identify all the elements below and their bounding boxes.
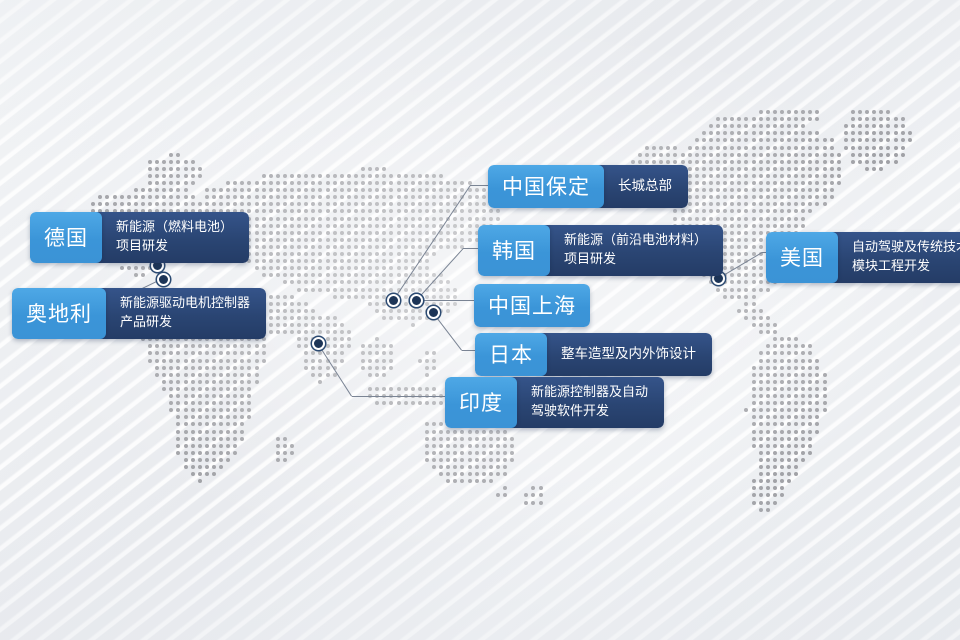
marker-india[interactable] <box>312 337 325 350</box>
label-desc-line: 新能源（燃料电池） <box>116 218 233 237</box>
label-name-korea: 韩国 <box>478 225 550 276</box>
label-name-usa: 美国 <box>766 232 838 283</box>
label-name-baoding: 中国保定 <box>488 165 604 208</box>
infographic-canvas: 中国保定长城总部韩国新能源（前沿电池材料）项目研发中国上海日本整车造型及内外饰设… <box>0 0 960 640</box>
label-austria[interactable]: 奥地利新能源驱动电机控制器产品研发 <box>12 288 266 339</box>
marker-baoding[interactable] <box>387 294 400 307</box>
label-desc-line: 项目研发 <box>116 237 233 256</box>
label-name-japan: 日本 <box>475 333 547 376</box>
label-desc-korea: 新能源（前沿电池材料）项目研发 <box>544 225 723 276</box>
label-desc-usa: 自动驾驶及传统技术模块工程开发 <box>832 232 960 283</box>
marker-shanghai[interactable] <box>410 294 423 307</box>
label-desc-austria: 新能源驱动电机控制器产品研发 <box>100 288 266 339</box>
label-desc-line: 长城总部 <box>618 176 672 196</box>
label-shanghai[interactable]: 中国上海 <box>474 284 590 327</box>
label-desc-japan: 整车造型及内外饰设计 <box>541 333 712 376</box>
label-desc-india: 新能源控制器及自动驾驶软件开发 <box>511 377 664 428</box>
label-baoding[interactable]: 中国保定长城总部 <box>488 165 688 208</box>
label-name-germany: 德国 <box>30 212 102 263</box>
label-desc-germany: 新能源（燃料电池）项目研发 <box>96 212 249 263</box>
label-desc-line: 驾驶软件开发 <box>531 402 648 421</box>
label-desc-line: 整车造型及内外饰设计 <box>561 344 696 364</box>
label-desc-line: 产品研发 <box>120 313 250 332</box>
label-name-shanghai: 中国上海 <box>474 284 590 327</box>
label-desc-line: 新能源驱动电机控制器 <box>120 294 250 313</box>
label-desc-line: 新能源（前沿电池材料） <box>564 231 707 250</box>
label-korea[interactable]: 韩国新能源（前沿电池材料）项目研发 <box>478 225 723 276</box>
label-germany[interactable]: 德国新能源（燃料电池）项目研发 <box>30 212 249 263</box>
marker-japan[interactable] <box>427 306 440 319</box>
label-desc-baoding: 长城总部 <box>598 165 688 208</box>
label-name-austria: 奥地利 <box>12 288 106 339</box>
label-india[interactable]: 印度新能源控制器及自动驾驶软件开发 <box>445 377 664 428</box>
label-desc-line: 自动驾驶及传统技术 <box>852 238 960 257</box>
label-desc-line: 模块工程开发 <box>852 257 960 276</box>
marker-austria[interactable] <box>157 273 170 286</box>
label-usa[interactable]: 美国自动驾驶及传统技术模块工程开发 <box>766 232 960 283</box>
label-japan[interactable]: 日本整车造型及内外饰设计 <box>475 333 712 376</box>
label-name-india: 印度 <box>445 377 517 428</box>
label-desc-line: 新能源控制器及自动 <box>531 383 648 402</box>
label-desc-line: 项目研发 <box>564 250 707 269</box>
